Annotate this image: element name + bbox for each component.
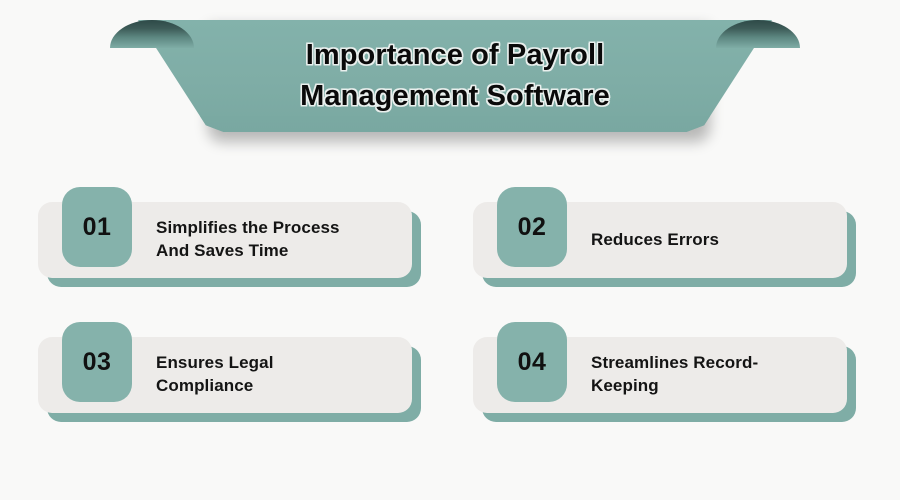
benefit-card-02[interactable]: 02 Reduces Errors (473, 202, 847, 278)
card-text-block: Ensures Legal Compliance (156, 337, 400, 413)
card-title-line-2: And Saves Time (156, 240, 400, 263)
card-number-label: 04 (518, 348, 547, 377)
card-number-badge: 03 (62, 322, 132, 402)
card-text-block: Simplifies the Process And Saves Time (156, 202, 400, 278)
benefit-card-04[interactable]: 04 Streamlines Record- Keeping (473, 337, 847, 413)
card-title-line-1: Ensures Legal (156, 352, 400, 375)
header-banner: Importance of Payroll Management Softwar… (0, 0, 900, 160)
page-title-line-2: Management Software (300, 77, 610, 116)
card-text-block: Streamlines Record- Keeping (591, 337, 835, 413)
card-title-line-1: Reduces Errors (591, 229, 835, 252)
benefit-card-01[interactable]: 01 Simplifies the Process And Saves Time (38, 202, 412, 278)
card-number-badge: 01 (62, 187, 132, 267)
card-title-line-2: Compliance (156, 375, 400, 398)
page-title-line-1: Importance of Payroll (306, 36, 605, 75)
card-number-badge: 04 (497, 322, 567, 402)
card-number-label: 02 (518, 213, 547, 242)
card-title-line-2: Keeping (591, 375, 835, 398)
card-text-block: Reduces Errors (591, 202, 835, 278)
page-title: Importance of Payroll Management Softwar… (138, 20, 772, 132)
card-number-badge: 02 (497, 187, 567, 267)
card-title-line-1: Streamlines Record- (591, 352, 835, 375)
card-number-label: 03 (83, 348, 112, 377)
benefit-card-03[interactable]: 03 Ensures Legal Compliance (38, 337, 412, 413)
benefit-card-grid: 01 Simplifies the Process And Saves Time… (0, 170, 900, 440)
card-number-label: 01 (83, 213, 112, 242)
card-title-line-1: Simplifies the Process (156, 217, 400, 240)
